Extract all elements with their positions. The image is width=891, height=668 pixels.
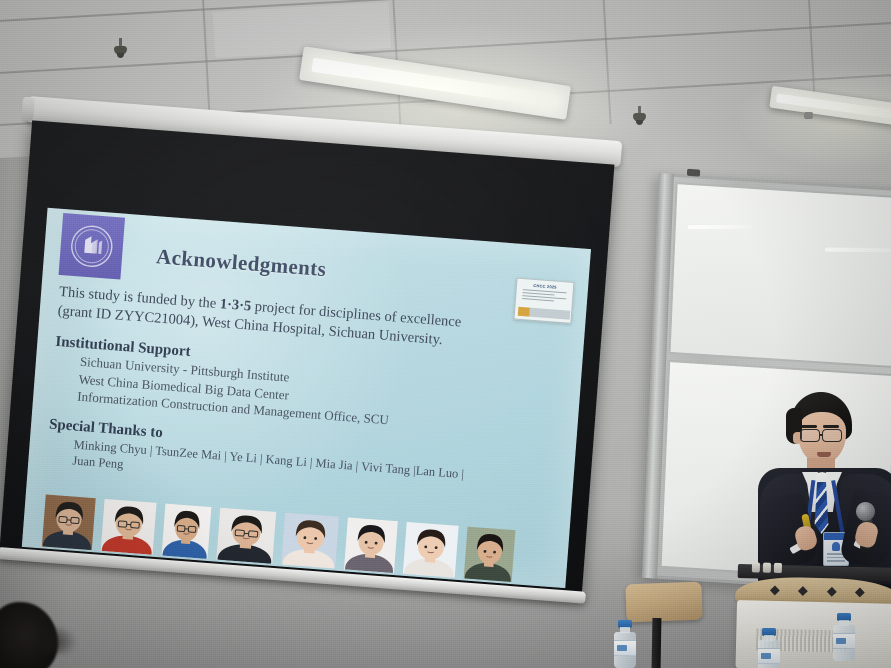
projection-screen: Acknowledgments CHCC 2025 This study is … (0, 96, 626, 620)
presenter-brow-right (823, 425, 839, 428)
bottle-label (758, 648, 780, 664)
bottle-label (614, 640, 636, 656)
headshot-5 (281, 513, 339, 569)
headshot-1 (42, 495, 96, 551)
eyeglasses-lens-left (800, 429, 820, 442)
presenter-mouth (817, 452, 831, 457)
audience-hair-wisp (42, 624, 78, 654)
screen-roller-cap (21, 97, 35, 122)
chair-backrest (625, 582, 702, 623)
headshot-3 (162, 504, 212, 559)
headshot-7 (403, 522, 459, 578)
funding-project-code: 1·3·5 (219, 296, 252, 314)
podium-controls[interactable] (752, 562, 782, 575)
eyeglasses-lens-right (822, 429, 842, 442)
water-bottle[interactable] (833, 613, 855, 661)
lecture-hall-photo: Acknowledgments CHCC 2025 This study is … (0, 0, 891, 668)
podium-knob[interactable] (763, 563, 771, 573)
podium-knob[interactable] (752, 562, 760, 572)
whiteboard-hook (687, 169, 700, 177)
slide-title: Acknowledgments (155, 244, 327, 282)
microphone-icon[interactable] (856, 502, 875, 521)
podium-knob[interactable] (774, 563, 782, 573)
university-seal-logo-icon (59, 213, 126, 280)
ceiling-vent (804, 112, 813, 119)
slide-body: This study is funded by the 1·3·5 projec… (46, 283, 571, 506)
presenter-brow-left (801, 425, 817, 428)
presenter-speaker (762, 392, 891, 592)
bottle-label (833, 633, 855, 649)
headshot-6 (344, 517, 398, 573)
whiteboard-panel-top[interactable] (668, 182, 891, 368)
conference-certificate-badge: CHCC 2025 (513, 278, 574, 324)
presentation-slide: Acknowledgments CHCC 2025 This study is … (22, 208, 591, 588)
headshot-4 (216, 508, 276, 564)
chair-support-post (652, 618, 662, 668)
water-bottle[interactable] (614, 620, 636, 668)
podium-diamond-decor (771, 584, 863, 598)
headshot-8 (464, 527, 516, 582)
water-bottle[interactable] (758, 628, 780, 668)
eyeglasses-bridge (820, 434, 823, 436)
headshot-2 (101, 499, 157, 555)
screen-surface: Acknowledgments CHCC 2025 This study is … (0, 120, 614, 593)
